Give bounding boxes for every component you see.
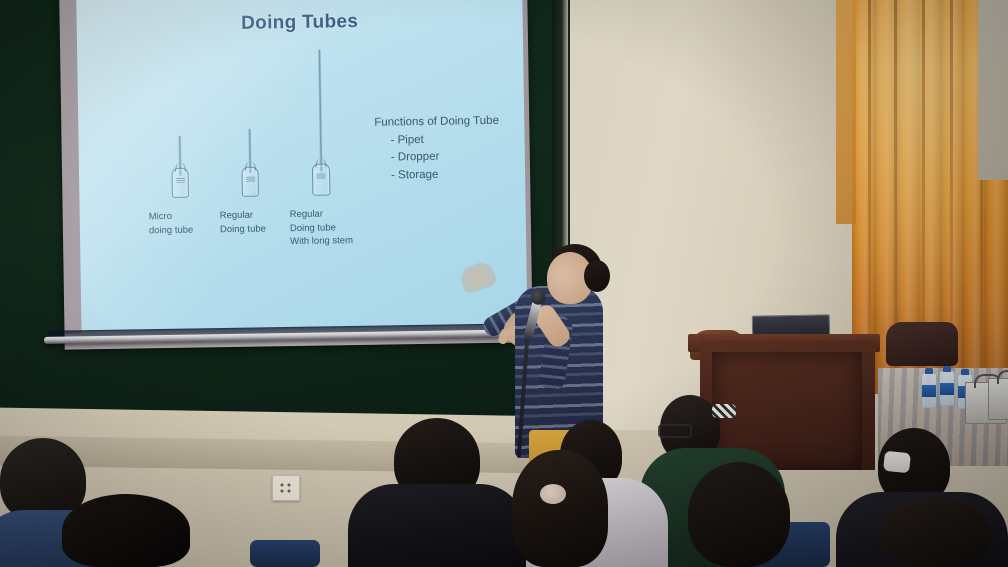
audience-head	[878, 498, 990, 567]
tube-label-line: Doing tube	[220, 222, 266, 236]
functions-block: Functions of Doing Tube - Pipet - Droppe…	[374, 113, 500, 185]
hair-bow	[540, 484, 566, 504]
presenter	[455, 238, 665, 458]
tote-bag	[988, 378, 1008, 420]
audience-head	[688, 462, 790, 567]
curtain-edge	[836, 0, 856, 224]
screenshot-root: Doing Tubes Micro doing tube Regular Doi…	[0, 0, 1008, 567]
tube-label-line: doing tube	[149, 223, 194, 237]
tube-label-line: Regular	[220, 208, 266, 222]
hair-clip	[712, 404, 736, 418]
tube-label-long-stem: Regular Doing tube With long stem	[290, 207, 353, 248]
wall-outlet	[272, 475, 300, 501]
tube-diagram-micro	[166, 136, 193, 198]
tube-label-line: Doing tube	[290, 221, 353, 235]
tube-diagram-long-stem	[305, 49, 335, 195]
functions-list: - Pipet - Dropper - Storage	[374, 130, 499, 184]
podium-bag-right	[886, 322, 958, 366]
far-right-wall	[978, 0, 1008, 180]
audience-head	[512, 450, 608, 567]
functions-item-pipet: - Pipet	[374, 130, 499, 149]
water-bottle	[921, 372, 937, 408]
functions-heading: Functions of Doing Tube	[374, 113, 499, 132]
audience-head	[62, 494, 190, 567]
tube-label-regular: Regular Doing tube	[220, 208, 266, 236]
water-bottle	[939, 370, 955, 406]
audience-shoulders	[348, 484, 526, 567]
presenter-hair-bun	[584, 260, 610, 292]
tube-label-micro: Micro doing tube	[149, 210, 194, 238]
face-mask	[883, 451, 911, 474]
slide-title: Doing Tubes	[77, 8, 523, 37]
eyeglasses-icon	[658, 424, 692, 438]
functions-item-storage: - Storage	[375, 165, 500, 184]
tube-diagram-regular	[236, 129, 263, 197]
hand-motion-blur	[458, 259, 498, 294]
tube-label-line: Regular	[290, 207, 353, 221]
tube-label-line: Micro	[149, 210, 194, 224]
chair	[250, 540, 320, 567]
functions-item-dropper: - Dropper	[375, 148, 500, 167]
tube-label-line: With long stem	[290, 234, 353, 248]
